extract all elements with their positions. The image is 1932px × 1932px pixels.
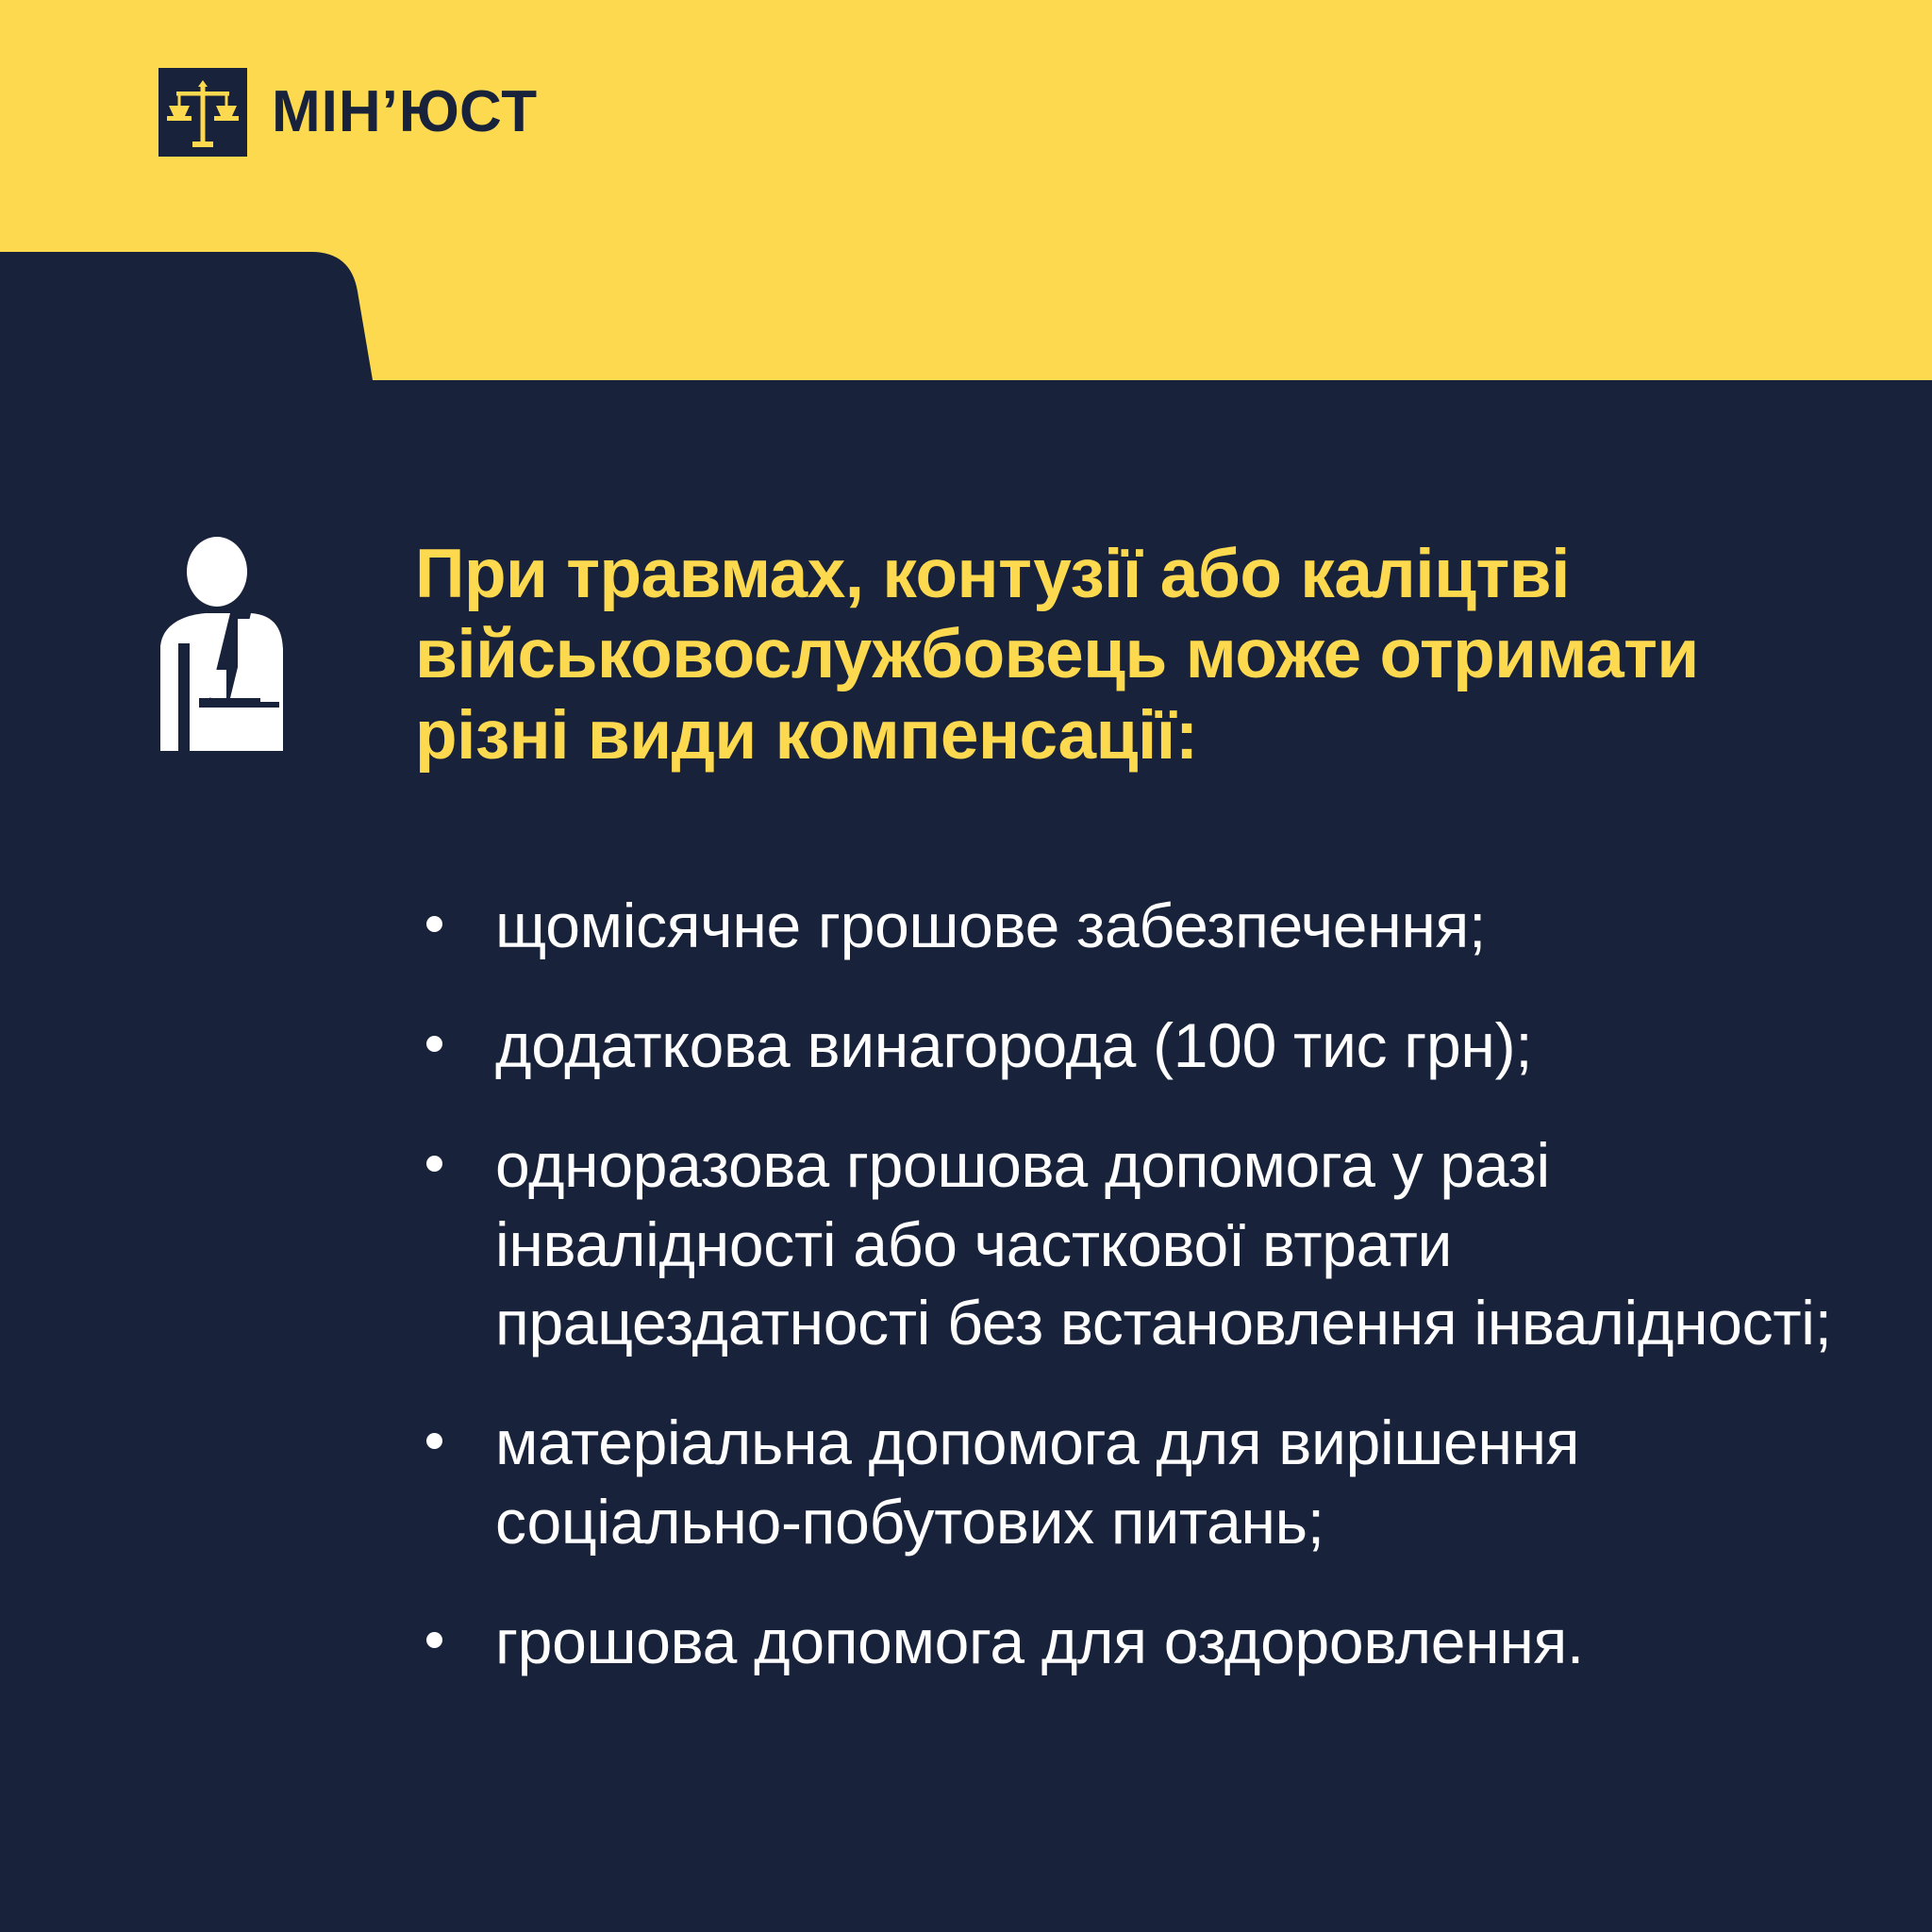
injured-person-arm-sling-icon — [140, 536, 319, 753]
list-item-label: матеріальна допомога для вирішення соціа… — [495, 1407, 1579, 1557]
list-item: матеріальна допомога для вирішення соціа… — [415, 1404, 1849, 1562]
brand-header: МІН’ЮСТ — [158, 68, 538, 157]
bullet-dot-icon — [426, 916, 442, 932]
list-item-label: додаткова винагорода (100 тис грн); — [495, 1010, 1532, 1080]
main-content: При травмах, контузії або каліцтві війсь… — [415, 534, 1849, 1682]
bullet-dot-icon — [426, 1036, 442, 1052]
scales-of-justice-icon — [158, 68, 247, 157]
list-item: додаткова винагорода (100 тис грн); — [415, 1007, 1849, 1086]
compensation-types-list: щомісячне грошове забезпечення; додатков… — [415, 887, 1849, 1682]
page-title: При травмах, контузії або каліцтві війсь… — [415, 534, 1755, 775]
bullet-dot-icon — [426, 1433, 442, 1449]
list-item-label: грошова допомога для оздоровлення. — [495, 1607, 1584, 1676]
list-item-label: одноразова грошова допомога у разі інвал… — [495, 1130, 1832, 1358]
list-item: одноразова грошова допомога у разі інвал… — [415, 1126, 1849, 1363]
brand-name: МІН’ЮСТ — [272, 83, 538, 142]
list-item: грошова допомога для оздоровлення. — [415, 1603, 1849, 1682]
infographic-poster: МІН’ЮСТ При травмах, конт — [0, 0, 1932, 1932]
list-item-label: щомісячне грошове забезпечення; — [495, 891, 1486, 960]
bullet-dot-icon — [426, 1156, 442, 1172]
list-item: щомісячне грошове забезпечення; — [415, 887, 1849, 966]
bullet-dot-icon — [426, 1632, 442, 1648]
